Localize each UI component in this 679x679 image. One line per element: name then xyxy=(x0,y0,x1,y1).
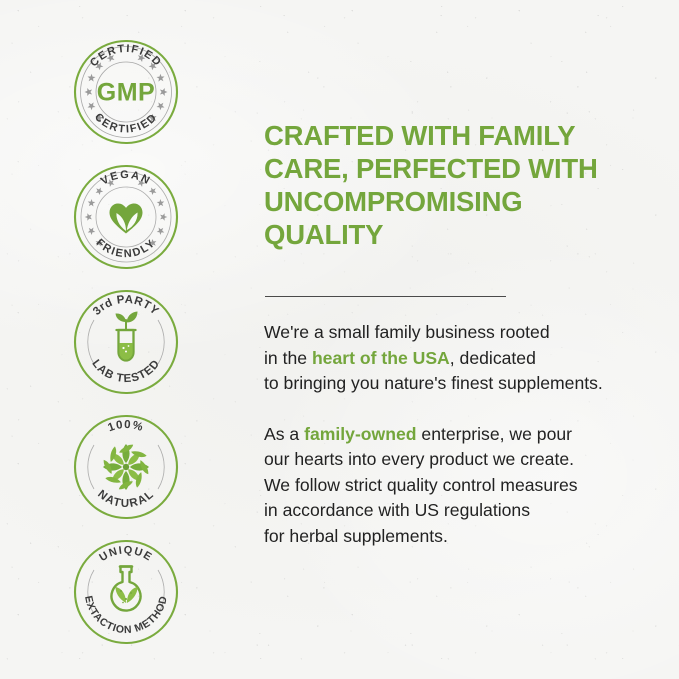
paragraph-2-line-5: for herbal supplements. xyxy=(264,524,668,550)
badge-vegan-top-text: VEGAN xyxy=(99,169,153,188)
badge-natural-top-text: 100% xyxy=(106,419,145,434)
paragraph-1-line-3: to bringing you nature's finest suppleme… xyxy=(264,371,668,397)
banner-content: CERTIFIED CERTIFIED GMP xyxy=(0,0,679,679)
headline-line-4: QUALITY xyxy=(264,218,668,251)
badge-extraction-method: UNIQUE EXTACTION METHOD xyxy=(70,536,182,648)
headline-line-1: CRAFTED WITH FAMILY xyxy=(264,119,668,152)
paragraph-2-line-1-post: enterprise, we pour xyxy=(417,424,573,444)
paragraph-1-line-2-pre: in the xyxy=(264,348,312,368)
divider xyxy=(265,296,506,297)
badge-gmp-center-text: GMP xyxy=(97,79,155,107)
paragraph-1-line-2: in the heart of the USA, dedicated xyxy=(264,346,668,372)
paragraph-2-line-4: in accordance with US regulations xyxy=(264,498,668,524)
page-title: CRAFTED WITH FAMILY CARE, PERFECTED WITH… xyxy=(264,119,668,251)
badge-lab-bottom-text: LAB TESTED xyxy=(89,358,162,386)
badge-natural-bottom-text: NATURAL xyxy=(95,488,156,510)
vegan-heart-leaf-seal-icon: VEGAN FRIENDLY xyxy=(70,161,182,273)
paragraph-2-line-1: As a family-owned enterprise, we pour xyxy=(264,422,668,448)
leaf-rosette-glyph xyxy=(103,444,150,491)
test-tube-leaf-seal-icon: 3rd PARTY LAB TESTED xyxy=(70,286,182,398)
badge-natural: 100% NATURAL xyxy=(70,411,182,523)
test-tube-glyph xyxy=(116,312,138,361)
heart-leaf-glyph xyxy=(110,204,143,234)
flask-glyph xyxy=(112,567,141,611)
badge-extraction-top-text: UNIQUE xyxy=(97,544,154,564)
paragraph-1-line-2-post: , dedicated xyxy=(450,348,536,368)
paragraph-2-line-2: our hearts into every product we create. xyxy=(264,447,668,473)
paragraph-2: As a family-owned enterprise, we pour ou… xyxy=(264,422,668,550)
paragraph-2-line-1-pre: As a xyxy=(264,424,304,444)
leaf-rosette-seal-icon: 100% NATURAL xyxy=(70,411,182,523)
paragraph-2-line-3: We follow strict quality control measure… xyxy=(264,473,668,499)
badge-lab-tested: 3rd PARTY LAB TESTED xyxy=(70,286,182,398)
certification-badge-column: CERTIFIED CERTIFIED GMP xyxy=(0,0,250,679)
headline-line-3: UNCOMPROMISING xyxy=(264,185,668,218)
copy-column: CRAFTED WITH FAMILY CARE, PERFECTED WITH… xyxy=(264,0,668,679)
paragraph-1-line-1: We're a small family business rooted xyxy=(264,320,668,346)
gmp-certified-seal-icon: CERTIFIED CERTIFIED GMP xyxy=(70,36,182,148)
highlight-heart-of-the-usa: heart of the USA xyxy=(312,348,450,368)
headline-line-2: CARE, PERFECTED WITH xyxy=(264,152,668,185)
highlight-family-owned: family-owned xyxy=(304,424,416,444)
badge-vegan-bottom-text: FRIENDLY xyxy=(94,237,159,260)
flask-leaf-seal-icon: UNIQUE EXTACTION METHOD xyxy=(70,536,182,648)
badge-gmp: CERTIFIED CERTIFIED GMP xyxy=(70,36,182,148)
banner-root: CERTIFIED CERTIFIED GMP xyxy=(0,0,679,679)
body-copy: We're a small family business rooted in … xyxy=(264,320,668,549)
paragraph-1: We're a small family business rooted in … xyxy=(264,320,668,397)
badge-vegan: VEGAN FRIENDLY xyxy=(70,161,182,273)
badge-gmp-bottom-text: CERTIFIED xyxy=(92,111,160,136)
